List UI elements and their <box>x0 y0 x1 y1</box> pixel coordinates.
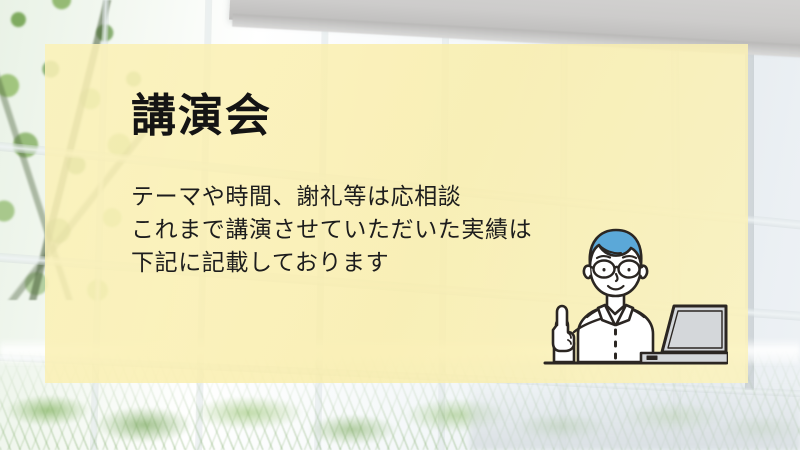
description-line-2: これまで講演させていただいた実績は <box>131 214 532 247</box>
slide-canvas: 講演会 テーマや時間、謝礼等は応相談 これまで講演させていただいた実績は 下記に… <box>0 0 800 450</box>
description-line-3: 下記に記載しております <box>131 247 532 280</box>
page-title: 講演会 <box>131 92 532 139</box>
floor-shadow <box>470 380 800 450</box>
description-line-1: テーマや時間、謝礼等は応相談 <box>131 181 532 214</box>
laptop-screen-inner <box>668 311 722 348</box>
index-finger <box>557 306 567 325</box>
laptop-trackpad <box>647 356 657 360</box>
man-with-laptop-illustration <box>543 222 728 382</box>
ear-left <box>584 266 591 278</box>
description-text: テーマや時間、謝礼等は応相談 これまで講演させていただいた実績は 下記に記載して… <box>131 181 532 280</box>
text-block: 講演会 テーマや時間、謝礼等は応相談 これまで講演させていただいた実績は 下記に… <box>131 92 532 280</box>
